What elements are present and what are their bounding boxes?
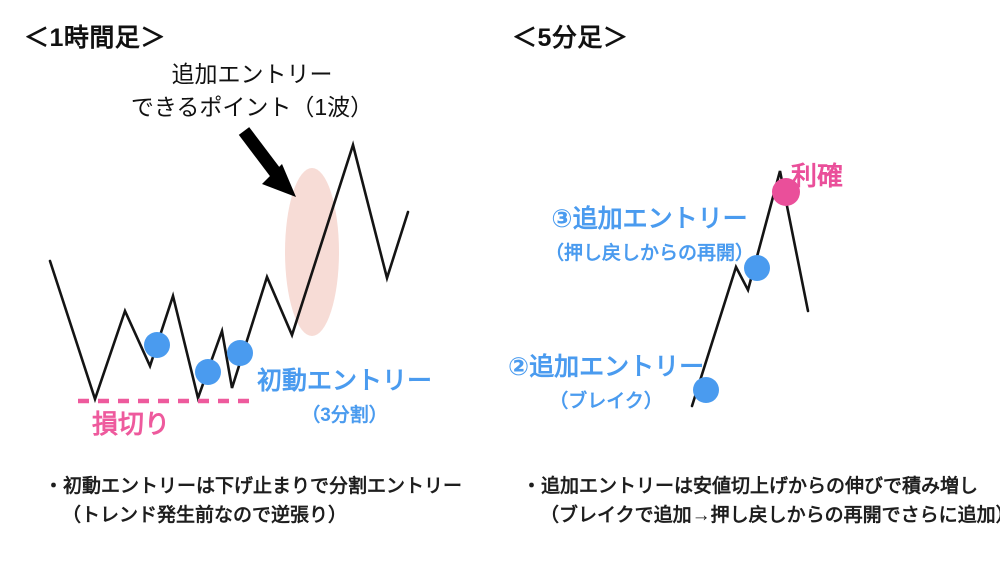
label-add-entry-2-sub: （ブレイク） xyxy=(508,386,704,413)
diagram-canvas: ＜1時間足＞ 追加エントリー できるポイント（1波） 初動エントリー xyxy=(0,0,1000,563)
label-stoploss: 損切り xyxy=(92,404,170,441)
entry-dot-2 xyxy=(195,359,221,385)
label-add-entry-2-main: ②追加エントリー xyxy=(508,347,704,383)
footnote-hourly-line-2: （トレンド発生前なので逆張り） xyxy=(44,501,462,530)
footnote-five-minute: ・追加エントリーは安値切上げからの伸びで積み増し （ブレイクで追加→押し戻しから… xyxy=(522,472,1000,531)
label-first-entry-main: 初動エントリー xyxy=(257,361,432,397)
label-takeprofit: 利確 xyxy=(791,156,843,193)
pointer-arrow-icon xyxy=(244,131,296,197)
footnote-hourly-line-1: ・初動エントリーは下げ止まりで分割エントリー xyxy=(44,476,462,497)
label-add-entry-3: ③追加エントリー （押し戻しからの再開） xyxy=(545,199,754,265)
panel-hourly-chart: ＜1時間足＞ 追加エントリー できるポイント（1波） 初動エントリー xyxy=(0,0,500,563)
panel-five-minute-chart: ＜5分足＞ ③追加エントリー （押し戻しからの再開） ②追加エントリー （ブレイ… xyxy=(500,0,1000,563)
label-first-entry: 初動エントリー （3分割） xyxy=(257,361,432,427)
footnote-five-line-2: （ブレイクで追加→押し戻しからの再開でさらに追加） xyxy=(522,501,1000,530)
entry-dot-1 xyxy=(144,332,170,358)
label-add-entry-3-sub: （押し戻しからの再開） xyxy=(545,238,754,265)
footnote-hourly: ・初動エントリーは下げ止まりで分割エントリー （トレンド発生前なので逆張り） xyxy=(44,472,462,531)
entry-dot-3 xyxy=(227,340,253,366)
footnote-five-line-1: ・追加エントリーは安値切上げからの伸びで積み増し xyxy=(522,476,978,497)
label-first-entry-sub: （3分割） xyxy=(257,400,432,427)
label-add-entry-3-main: ③追加エントリー xyxy=(545,199,754,235)
label-add-entry-2: ②追加エントリー （ブレイク） xyxy=(508,347,704,413)
